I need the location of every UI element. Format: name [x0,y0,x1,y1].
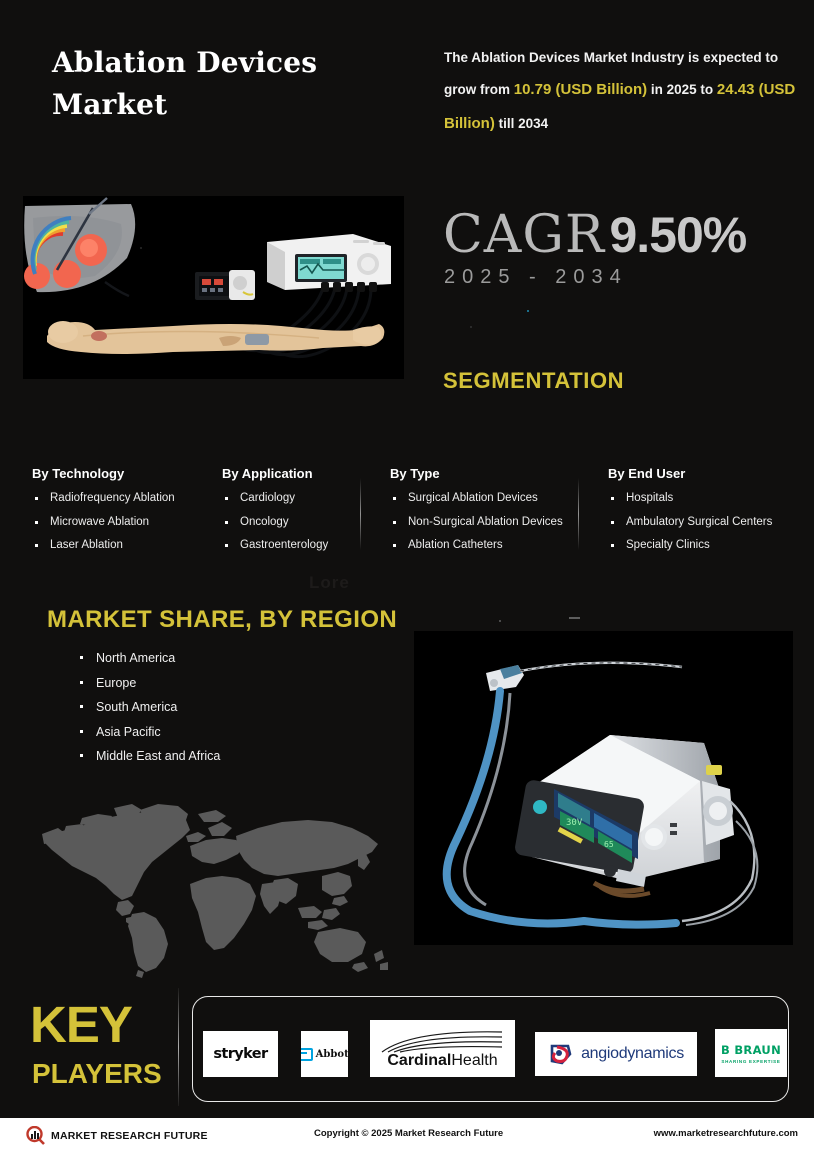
logo-cardinal-text: CardinalHealth [387,1052,497,1070]
list-item: Oncology [222,517,328,529]
market-summary-text: The Ablation Devices Market Industry is … [444,43,806,141]
list-item: Ambulatory Surgical Centers [608,517,772,529]
list-item: Radiofrequency Ablation [32,493,175,505]
footer-brand-text: MARKET RESEARCH FUTURE [51,1130,208,1142]
logo-b-braun-tagline: SHARING EXPERTISE [721,1059,780,1064]
cagr-block: CAGR 9.50% [443,205,746,265]
key-players-divider [178,988,179,1106]
key-players-label-line2: PLAYERS [32,1060,162,1088]
list-item: Non-Surgical Ablation Devices [390,517,563,529]
summary-part-3: till 2034 [495,116,548,131]
segment-divider-1 [360,478,361,550]
list-item: Laser Ablation [32,540,175,552]
segment-list: Surgical Ablation Devices Non-Surgical A… [390,493,563,552]
logo-abbott-text: Abbott [316,1049,348,1060]
list-item: Gastroenterology [222,540,328,552]
cagr-label: CAGR [443,205,605,265]
logo-stryker[interactable]: stryker [203,1031,278,1077]
logo-stryker-text: stryker [213,1046,267,1062]
list-item: Surgical Ablation Devices [390,493,563,505]
market-share-heading: MARKET SHARE, BY REGION [47,606,397,634]
ablation-generator-photo: 30V 65 [414,631,793,945]
segment-title: By Technology [32,466,175,481]
page-title: Ablation Devices Market [52,42,412,126]
segment-title: By Type [390,466,563,481]
list-item: Asia Pacific [78,726,220,739]
footer-brand: MARKET RESEARCH FUTURE [26,1126,208,1145]
logo-cardinal-health[interactable]: CardinalHealth [370,1020,515,1077]
list-item: Microwave Ablation [32,517,175,529]
segment-divider-2 [578,478,579,550]
segment-list: Hospitals Ambulatory Surgical Centers Sp… [608,493,772,552]
list-item: Ablation Catheters [390,540,563,552]
cardinal-bold: Cardinal [387,1052,451,1069]
segment-column-technology: By Technology Radiofrequency Ablation Mi… [32,466,175,564]
footer-url[interactable]: www.marketresearchfuture.com [654,1128,798,1139]
logo-abbott[interactable]: Abbott [301,1031,348,1077]
segmentation-heading: SEGMENTATION [443,368,624,394]
infographic-page: Ablation Devices Market The Ablation Dev… [0,0,814,1150]
cagr-period: 2025 - 2034 [444,266,628,289]
list-item: Middle East and Africa [78,750,220,763]
magnifier-chart-icon [26,1126,45,1145]
decorative-dot-a [527,310,529,312]
logo-angiodynamics-text: angiodynamics [581,1045,684,1063]
segment-list: Radiofrequency Ablation Microwave Ablati… [32,493,175,552]
list-item: North America [78,652,220,665]
logo-b-braun-text: B BRAUN [721,1043,781,1057]
decorative-dot-c [499,620,501,622]
list-item: Cardiology [222,493,328,505]
angiodynamics-mark-icon [548,1041,574,1067]
abbott-mark-icon [301,1048,313,1061]
cardinal-light: Health [451,1052,497,1069]
segment-list: Cardiology Oncology Gastroenterology [222,493,328,552]
list-item: Hospitals [608,493,772,505]
key-players-label-line1: KEY [30,1002,132,1049]
segment-column-end-user: By End User Hospitals Ambulatory Surgica… [608,466,772,564]
cagr-value: 9.50% [609,207,746,263]
market-value-2025: 10.79 (USD Billion) [514,81,647,98]
segment-title: By End User [608,466,772,481]
logo-angiodynamics[interactable]: angiodynamics [535,1032,697,1076]
logo-b-braun[interactable]: B BRAUN SHARING EXPERTISE [715,1029,787,1077]
watermark-text: Lore [309,573,350,593]
cardinal-swoosh-icon [378,1028,508,1054]
svg-text:30V: 30V [566,818,583,828]
list-item: Europe [78,677,220,690]
ablation-procedure-illustration [23,196,404,379]
list-item: Specialty Clinics [608,540,772,552]
decorative-dot-b [470,326,472,328]
segment-column-type: By Type Surgical Ablation Devices Non-Su… [390,466,563,564]
footer-copyright: Copyright © 2025 Market Research Future [314,1128,503,1139]
svg-text:65: 65 [604,840,614,849]
segmentation-row: By Technology Radiofrequency Ablation Mi… [0,466,814,566]
segment-column-application: By Application Cardiology Oncology Gastr… [222,466,328,564]
list-item: South America [78,701,220,714]
summary-part-2: in 2025 to [647,82,717,97]
region-list: North America Europe South America Asia … [78,652,220,775]
world-map [22,792,406,978]
decorative-dash [569,617,580,619]
segment-title: By Application [222,466,328,481]
